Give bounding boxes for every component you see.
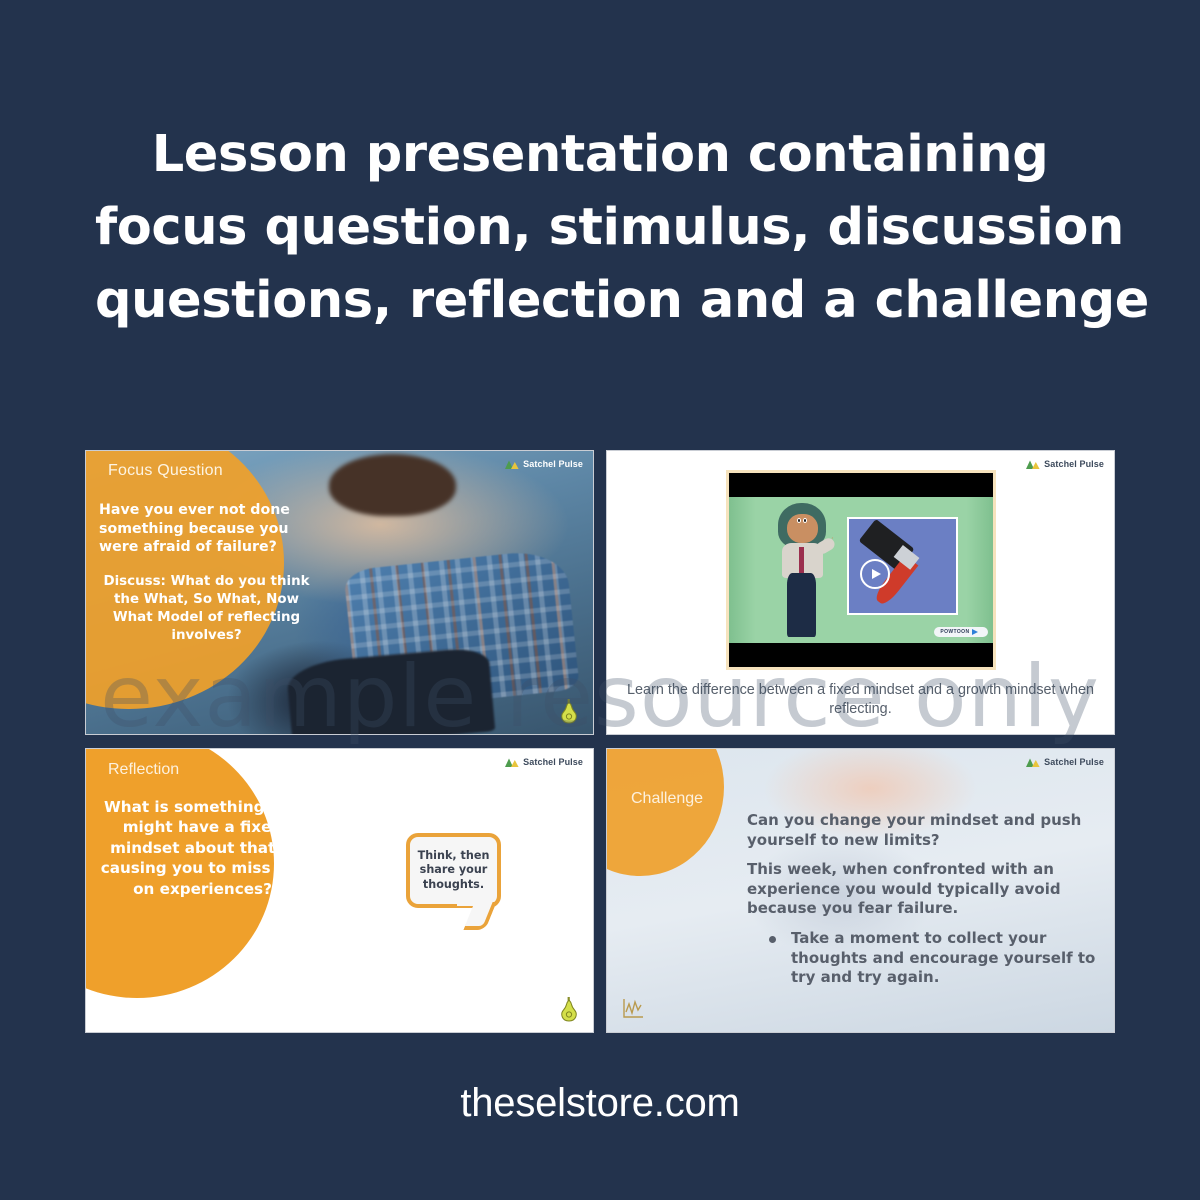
slide-stimulus[interactable]: Satchel Pulse	[606, 450, 1115, 735]
mountains-icon	[505, 459, 519, 469]
speech-bubble: Think, then share your thoughts.	[406, 833, 501, 908]
character-hand	[832, 538, 834, 540]
speech-bubble-tail-cap	[457, 898, 487, 906]
slide-eyebrow-reflection: Reflection	[108, 761, 179, 779]
challenge-paragraph-1: Can you change your mindset and push you…	[747, 811, 1102, 850]
challenge-body: Can you change your mindset and push you…	[747, 811, 1102, 988]
pear-icon	[559, 698, 579, 724]
slide-reflection[interactable]: Satchel Pulse Reflection What is somethi…	[85, 748, 594, 1033]
video-blue-panel	[847, 517, 958, 615]
character-eye-left	[797, 518, 801, 523]
slide-eyebrow-focus-question: Focus Question	[108, 462, 223, 480]
pear-icon	[559, 996, 579, 1022]
powtoon-label: POWTOON	[940, 629, 969, 635]
stimulus-caption: Learn the difference between a fixed min…	[617, 681, 1104, 719]
character-eye-right	[803, 518, 807, 523]
character-face	[787, 514, 817, 544]
slide-focus-question[interactable]: Satchel Pulse Focus Question Have you ev…	[85, 450, 594, 735]
slide-eyebrow-challenge: Challenge	[631, 790, 703, 808]
video-thumbnail[interactable]: POWTOON	[726, 470, 996, 670]
mountains-icon	[1026, 757, 1040, 767]
challenge-paragraph-2: This week, when confronted with an exper…	[747, 860, 1102, 919]
speech-bubble-text: Think, then share your thoughts.	[410, 849, 497, 893]
satchel-pulse-logo: Satchel Pulse	[505, 459, 583, 469]
powtoon-watermark-badge: POWTOON	[934, 627, 987, 637]
challenge-bullet-1: Take a moment to collect your thoughts a…	[769, 929, 1102, 988]
focus-question-discuss-text: Discuss: What do you think the What, So …	[99, 573, 314, 645]
mountains-icon	[505, 757, 519, 767]
character-legs	[787, 573, 816, 637]
video-stage-background: POWTOON	[729, 497, 993, 643]
line-chart-icon	[621, 998, 645, 1020]
challenge-bullet-list: Take a moment to collect your thoughts a…	[747, 929, 1102, 988]
reflection-question-text: What is something you might have a fixed…	[96, 797, 309, 899]
speech-bubble-tail	[463, 902, 496, 930]
focus-question-text: Have you ever not done something because…	[99, 501, 314, 557]
satchel-pulse-label: Satchel Pulse	[1044, 459, 1104, 469]
page-title-line-1: Lesson presentation containing	[95, 118, 1105, 191]
page-title: Lesson presentation containing focus que…	[0, 118, 1200, 337]
photo-trousers-shape	[285, 646, 494, 735]
page-title-line-2: focus question, stimulus, discussion	[95, 191, 1105, 264]
satchel-pulse-label: Satchel Pulse	[523, 459, 583, 469]
slide-challenge[interactable]: Satchel Pulse Challenge Can you change y…	[606, 748, 1115, 1033]
satchel-pulse-logo: Satchel Pulse	[505, 757, 583, 767]
powtoon-arrow-icon	[972, 629, 978, 635]
satchel-pulse-logo: Satchel Pulse	[1026, 757, 1104, 767]
page-title-line-3: questions, reflection and a challenge	[95, 264, 1105, 337]
satchel-pulse-logo: Satchel Pulse	[1026, 459, 1104, 469]
footer-website-url: theselstore.com	[0, 1081, 1200, 1126]
animated-character	[771, 503, 834, 637]
satchel-pulse-label: Satchel Pulse	[523, 757, 583, 767]
mountains-icon	[1026, 459, 1040, 469]
satchel-pulse-label: Satchel Pulse	[1044, 757, 1104, 767]
photo-head-shape	[329, 454, 456, 516]
slide-thumbnail-grid: Satchel Pulse Focus Question Have you ev…	[85, 450, 1115, 1033]
